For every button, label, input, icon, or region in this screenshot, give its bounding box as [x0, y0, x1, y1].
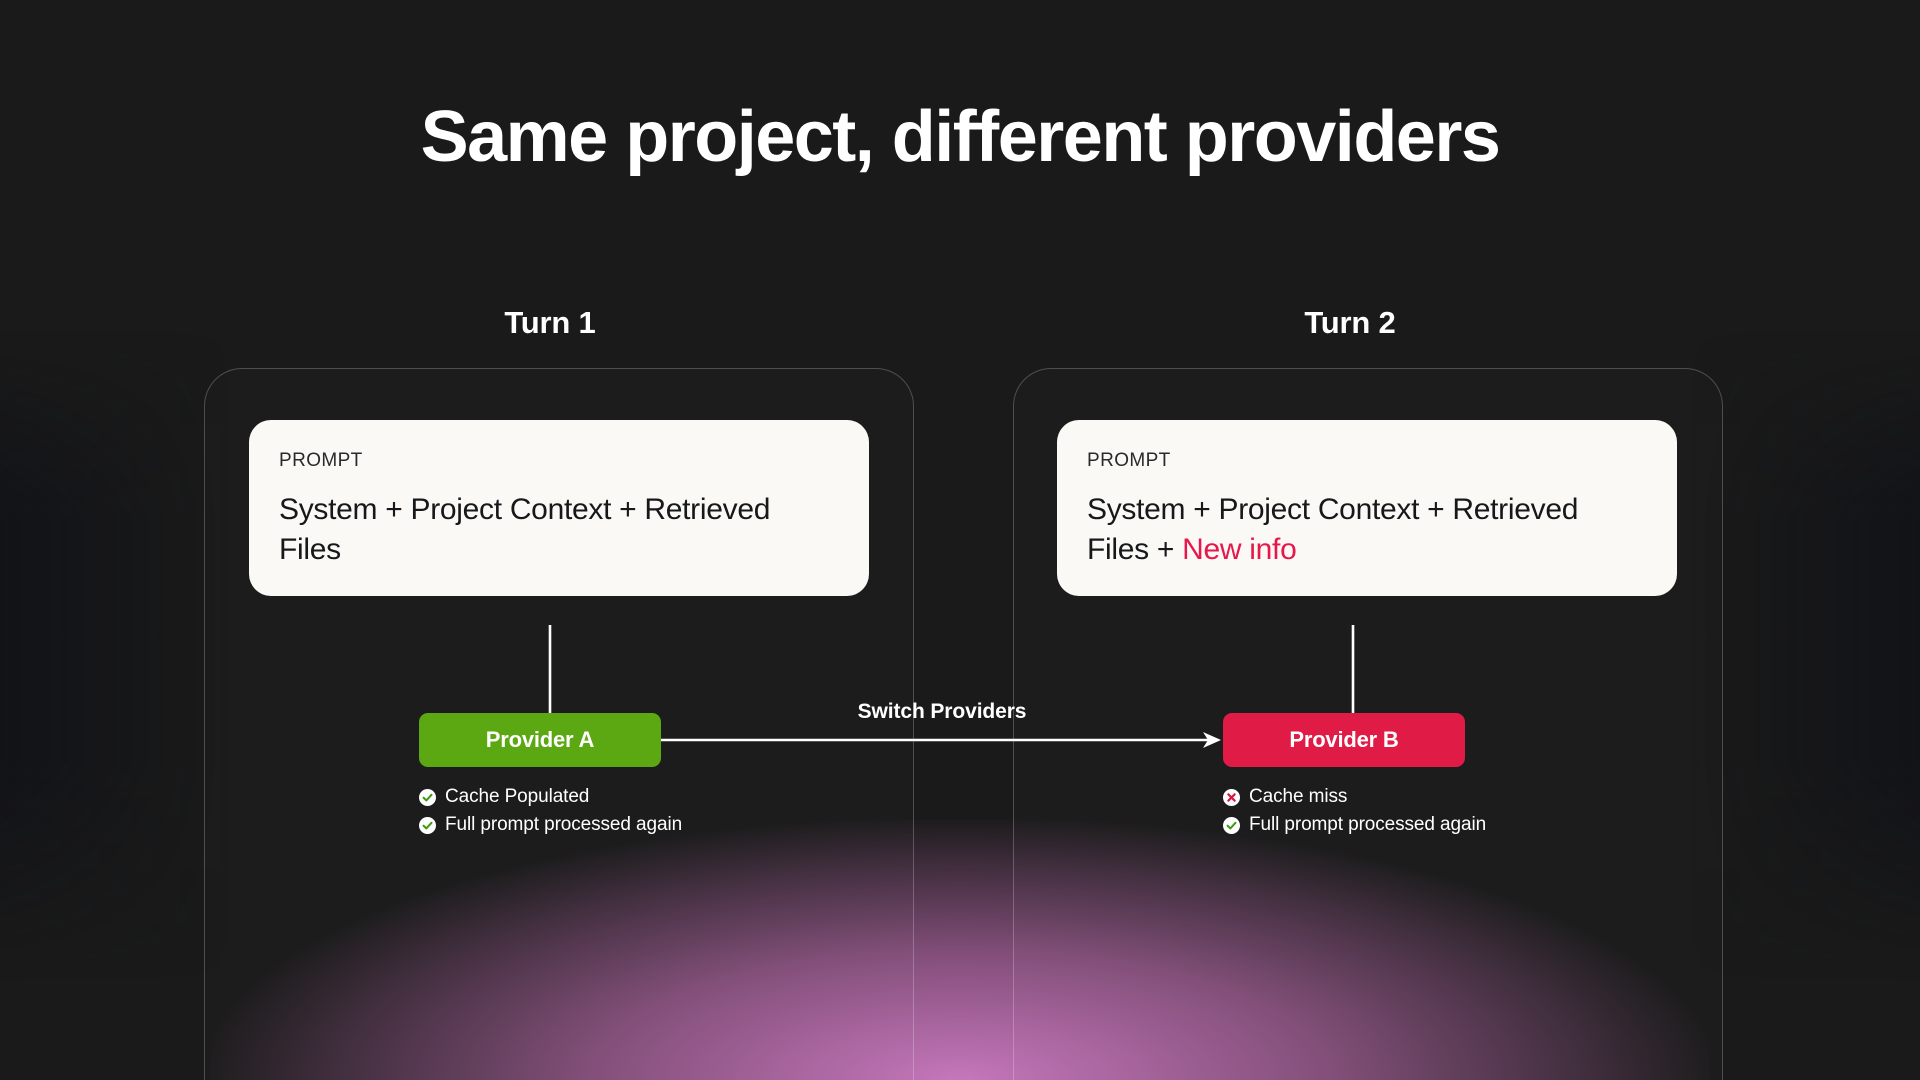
prompt-body-text: System + Project Context + Retrieved Fil…: [279, 493, 770, 566]
prompt-eyebrow-label: PROMPT: [1087, 450, 1647, 472]
status-list-turn-1: Cache Populated Full prompt processed ag…: [419, 786, 682, 836]
prompt-card-turn-2: PROMPT System + Project Context + Retrie…: [1057, 420, 1677, 596]
slide-canvas: Same project, different providers Turn 1…: [0, 0, 1920, 1080]
switch-providers-arrow: [661, 715, 1223, 765]
prompt-card-turn-1: PROMPT System + Project Context + Retrie…: [249, 420, 869, 596]
turn-2-heading: Turn 2: [1130, 305, 1570, 341]
status-label: Cache Populated: [445, 786, 589, 808]
status-label: Full prompt processed again: [1249, 814, 1486, 836]
x-circle-icon: [1223, 789, 1240, 806]
provider-a-button[interactable]: Provider A: [419, 713, 661, 767]
turn-1-heading: Turn 1: [330, 305, 770, 341]
page-title: Same project, different providers: [0, 96, 1920, 178]
prompt-body-highlight: New info: [1182, 533, 1296, 566]
status-row: Cache Populated: [419, 786, 682, 808]
status-label: Cache miss: [1249, 786, 1347, 808]
status-label: Full prompt processed again: [445, 814, 682, 836]
prompt-body-text: System + Project Context + Retrieved Fil…: [1087, 493, 1578, 566]
status-row: Cache miss: [1223, 786, 1486, 808]
status-list-turn-2: Cache miss Full prompt processed again: [1223, 786, 1486, 836]
prompt-body-turn-1: System + Project Context + Retrieved Fil…: [279, 490, 839, 570]
prompt-eyebrow-label: PROMPT: [279, 450, 839, 472]
prompt-body-turn-2: System + Project Context + Retrieved Fil…: [1087, 490, 1647, 570]
status-row: Full prompt processed again: [1223, 814, 1486, 836]
check-circle-icon: [419, 817, 436, 834]
provider-b-button[interactable]: Provider B: [1223, 713, 1465, 767]
status-row: Full prompt processed again: [419, 814, 682, 836]
check-circle-icon: [419, 789, 436, 806]
check-circle-icon: [1223, 817, 1240, 834]
